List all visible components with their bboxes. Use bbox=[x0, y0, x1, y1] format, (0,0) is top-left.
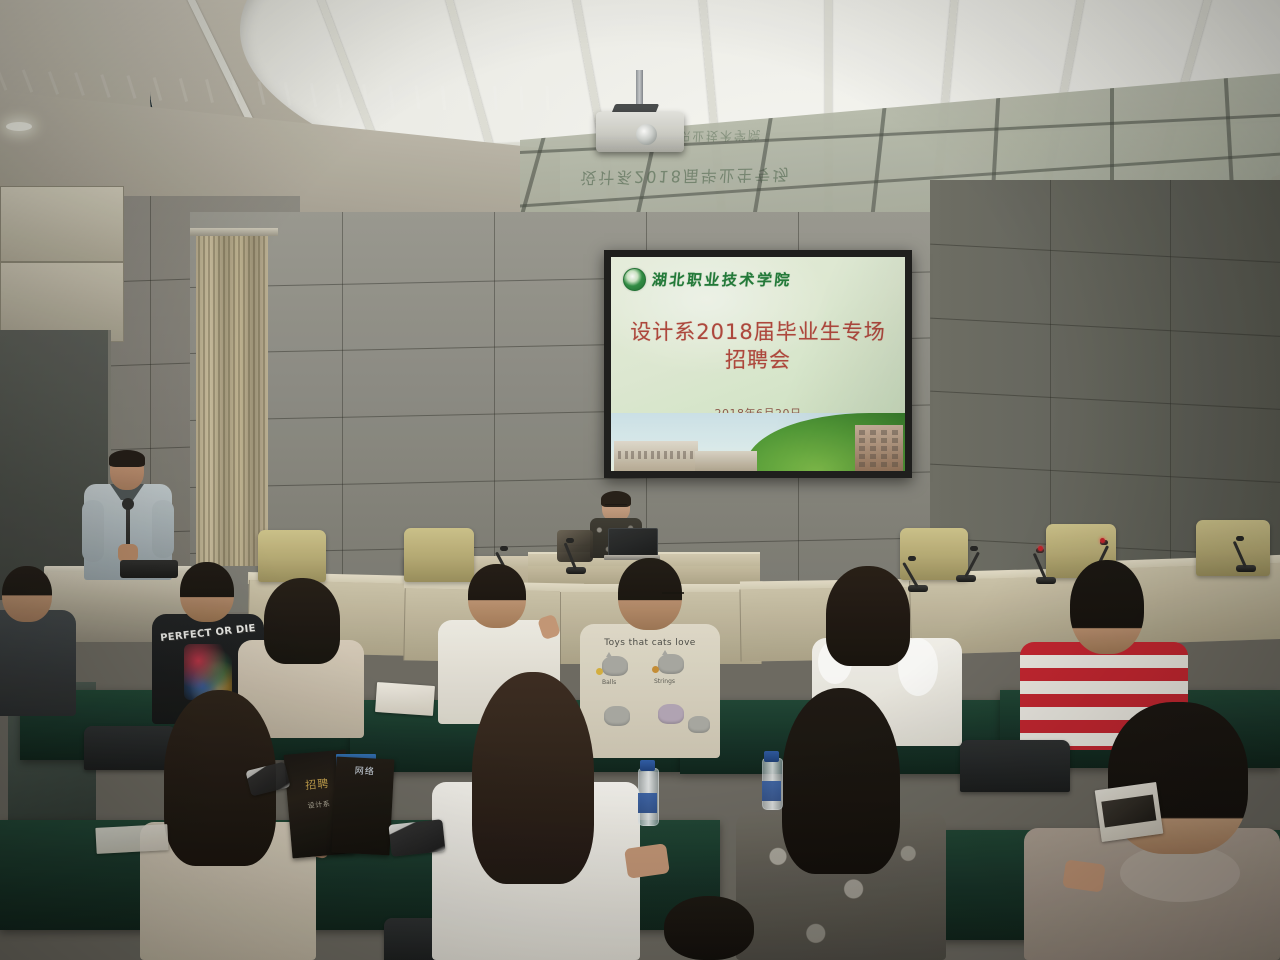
attendee-head bbox=[180, 562, 234, 622]
microphone-neck bbox=[964, 552, 980, 578]
wall-panel-seam bbox=[1170, 180, 1171, 620]
wall-panel-seam bbox=[342, 212, 343, 612]
band-divider bbox=[0, 67, 7, 90]
smartphone[interactable] bbox=[388, 819, 445, 856]
microphone-led-indicator bbox=[1100, 538, 1105, 543]
microphone-capsule-icon bbox=[500, 546, 508, 551]
attendee-head bbox=[2, 566, 52, 622]
attendee-long-hair-white bbox=[432, 672, 640, 960]
presenter-laptop[interactable] bbox=[608, 528, 656, 562]
microphone-capsule-icon bbox=[908, 556, 916, 561]
microphone-capsule-icon bbox=[970, 546, 978, 551]
wall-panel-seam bbox=[930, 317, 1280, 337]
wall-panel-seam bbox=[930, 244, 1280, 264]
microphone-capsule-icon bbox=[122, 498, 134, 510]
attendee-hair bbox=[264, 578, 340, 664]
microphone-neck bbox=[564, 542, 577, 569]
cat-graphic bbox=[658, 704, 684, 724]
microphone-capsule-icon bbox=[566, 538, 574, 543]
curtain-fold bbox=[208, 236, 210, 566]
bottle-cap bbox=[640, 760, 655, 771]
curtain-rail bbox=[190, 228, 278, 236]
attendee-hair bbox=[472, 672, 594, 884]
cat-toy-ball-icon bbox=[652, 666, 659, 673]
speaker-hair bbox=[109, 450, 145, 467]
ceiling-light bbox=[6, 122, 32, 131]
attendee-head bbox=[664, 896, 754, 960]
attendee-hair bbox=[826, 566, 910, 666]
curtain-fold bbox=[213, 236, 215, 566]
cat-graphic bbox=[658, 654, 684, 674]
curtain-fold bbox=[258, 236, 260, 566]
water-bottle[interactable] bbox=[638, 768, 659, 826]
curtain-fold bbox=[248, 236, 250, 566]
microphone-led-indicator bbox=[1038, 546, 1043, 551]
attendee-head bbox=[468, 564, 526, 628]
attendee-hair bbox=[782, 688, 900, 874]
conference-chair[interactable] bbox=[1196, 520, 1270, 576]
curtain-fold bbox=[223, 236, 225, 566]
wall-panel-seam bbox=[930, 464, 1280, 484]
attendee-hand bbox=[1062, 859, 1106, 892]
curtain-fold bbox=[263, 236, 265, 566]
bottle-label bbox=[638, 793, 657, 813]
attendee-partial-head bbox=[664, 896, 754, 960]
speaker-arm-right bbox=[152, 500, 174, 558]
attendee-hand bbox=[624, 843, 670, 879]
flyer-photo bbox=[1101, 795, 1156, 828]
conference-hall-photo: 设计系2018届毕业生专场 湖北职业技术学院 湖北职业技术学院 设计系2018届… bbox=[0, 0, 1280, 960]
attendee-torso bbox=[0, 610, 76, 716]
tee-label-strings: Strings bbox=[654, 678, 675, 685]
screen-shading bbox=[611, 257, 905, 471]
projection-screen: 湖北职业技术学院 设计系2018届毕业生专场 招聘会 2018年6月20日 bbox=[604, 250, 912, 478]
laptop-screen bbox=[608, 528, 658, 558]
curtains bbox=[196, 236, 268, 566]
paper-sheet-2[interactable] bbox=[95, 824, 168, 854]
attendee-head bbox=[1070, 560, 1144, 654]
curtain-fold bbox=[253, 236, 255, 566]
speaker-arm-left bbox=[82, 500, 104, 562]
brochure-title-2: 网络 bbox=[336, 763, 395, 779]
wall-panel-seam bbox=[930, 391, 1280, 411]
band-divider bbox=[22, 69, 33, 92]
cat-ear-icon bbox=[662, 650, 668, 655]
curtain-fold bbox=[238, 236, 240, 566]
attendee-floral-top bbox=[736, 688, 946, 960]
attendee-glasses bbox=[662, 592, 684, 599]
slide-surface: 湖北职业技术学院 设计系2018届毕业生专场 招聘会 2018年6月20日 bbox=[611, 257, 905, 471]
band-divider bbox=[100, 74, 110, 98]
gooseneck-microphone[interactable] bbox=[1236, 536, 1258, 572]
curtain-fold bbox=[233, 236, 235, 566]
recruitment-brochure-2[interactable]: 网络 bbox=[332, 757, 395, 856]
water-bottle-2[interactable] bbox=[762, 758, 783, 810]
microphone-capsule-icon bbox=[1236, 536, 1244, 541]
curtain-fold bbox=[228, 236, 230, 566]
curtain-fold bbox=[198, 236, 200, 566]
projector-lens bbox=[636, 124, 657, 145]
curtain-fold bbox=[243, 236, 245, 566]
curtain-fold bbox=[203, 236, 205, 566]
wall-cabinet-upper bbox=[0, 186, 124, 262]
band-divider bbox=[127, 75, 137, 99]
paper-sheet[interactable] bbox=[375, 682, 435, 716]
bottle-label bbox=[762, 781, 781, 801]
conference-chair[interactable] bbox=[258, 530, 326, 582]
cat-ear-icon bbox=[606, 652, 612, 657]
presenter-glasses bbox=[605, 504, 627, 510]
bottle-cap bbox=[764, 751, 779, 762]
tee-heading: Toys that cats love bbox=[580, 638, 720, 648]
band-divider bbox=[48, 71, 59, 95]
cat-graphic bbox=[688, 716, 710, 733]
recruitment-flyer[interactable] bbox=[1095, 782, 1164, 842]
curtain-fold bbox=[218, 236, 220, 566]
attendee-dark-shirt bbox=[0, 566, 76, 716]
band-divider bbox=[74, 73, 85, 97]
